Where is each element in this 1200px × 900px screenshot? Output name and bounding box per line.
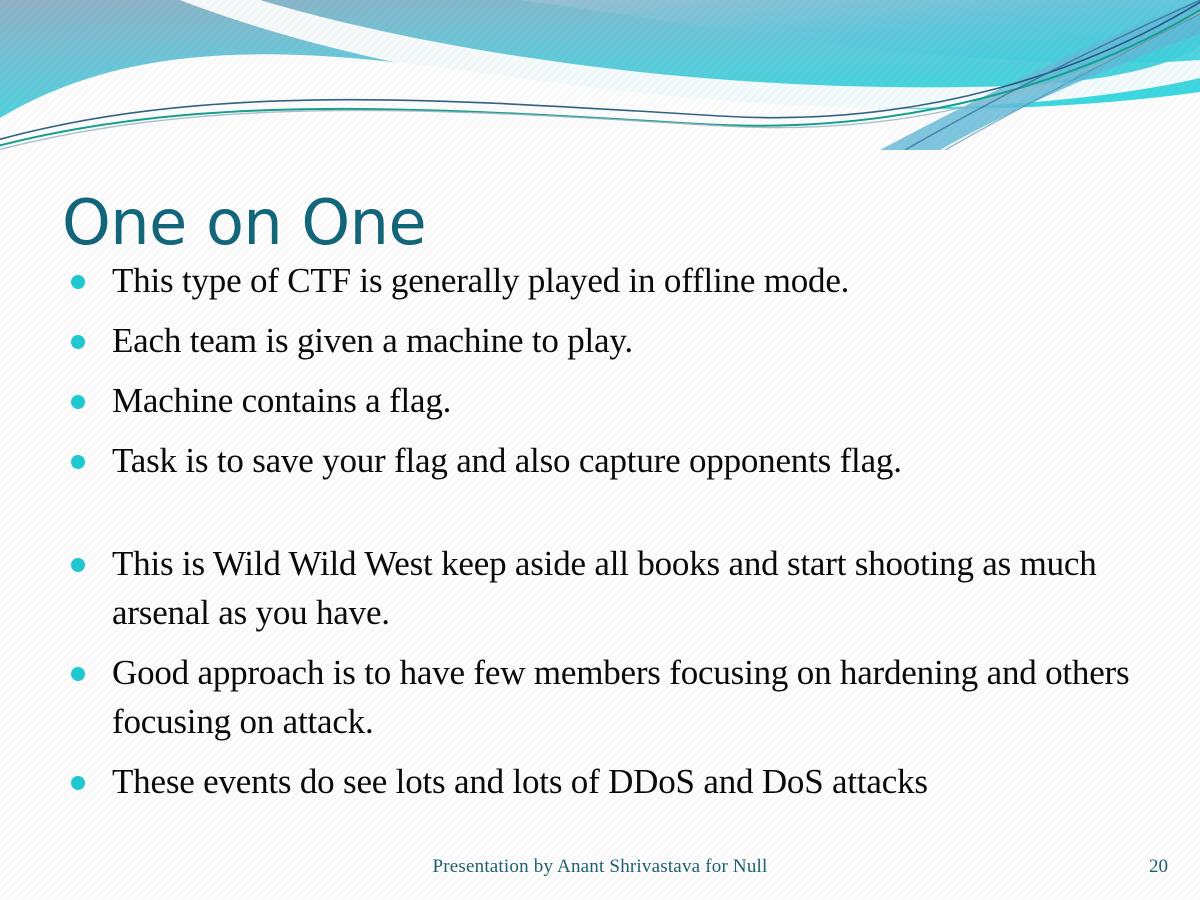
bullet-dot-icon: [71, 558, 85, 572]
list-item: Task is to save your flag and also captu…: [62, 436, 1137, 485]
list-item-text: This is Wild Wild West keep aside all bo…: [112, 544, 1097, 632]
list-item: Machine contains a flag.: [62, 376, 1137, 425]
header-wave-decoration: [0, 0, 1200, 150]
list-item: Good approach is to have few members foc…: [62, 648, 1137, 746]
bullet-dot-icon: [71, 776, 85, 790]
list-item-text: Machine contains a flag.: [112, 381, 451, 420]
list-item: This type of CTF is generally played in …: [62, 256, 1137, 305]
slide-page-number: 20: [1149, 856, 1168, 878]
list-item-text: These events do see lots and lots of DDo…: [112, 762, 928, 801]
bullet-dot-icon: [71, 455, 85, 469]
list-item: Each team is given a machine to play.: [62, 316, 1137, 365]
list-item: These events do see lots and lots of DDo…: [62, 757, 1137, 806]
list-item-text: Each team is given a machine to play.: [112, 321, 633, 360]
bullet-dot-icon: [71, 667, 85, 681]
bullet-list: This type of CTF is generally played in …: [62, 256, 1137, 817]
list-item: This is Wild Wild West keep aside all bo…: [62, 539, 1137, 637]
slide-footer: Presentation by Anant Shrivastava for Nu…: [0, 856, 1200, 878]
list-item-text: Task is to save your flag and also captu…: [112, 441, 902, 480]
bullet-dot-icon: [71, 335, 85, 349]
presentation-slide: One on One This type of CTF is generally…: [0, 0, 1200, 900]
list-item-text: Good approach is to have few members foc…: [112, 653, 1129, 741]
page-title: One on One: [62, 190, 426, 257]
bullet-dot-icon: [71, 395, 85, 409]
list-item-text: This type of CTF is generally played in …: [112, 261, 849, 300]
bullet-dot-icon: [71, 275, 85, 289]
